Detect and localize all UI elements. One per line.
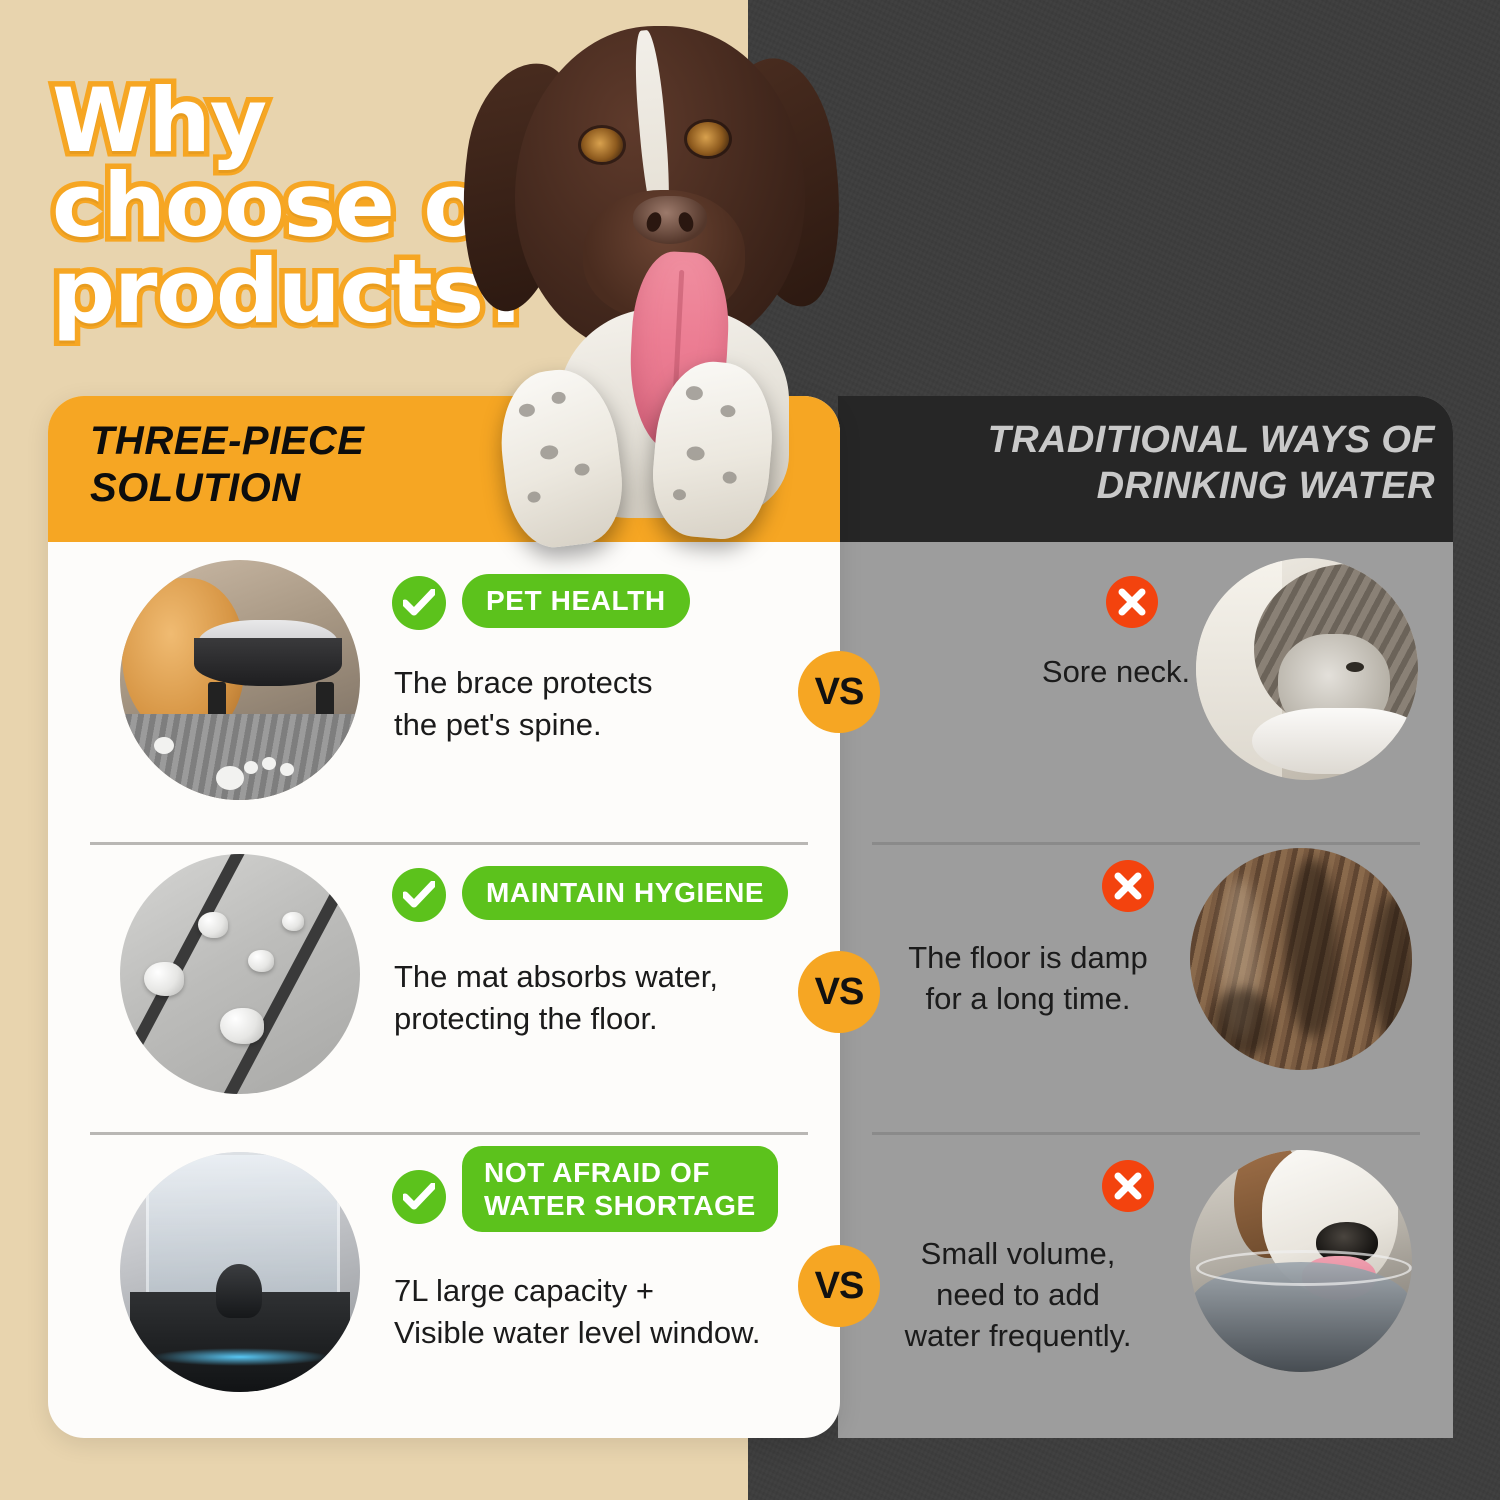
traditional-desc-2-line-1: The floor is damp [868, 938, 1188, 979]
solution-desc-3-line-2: Visible water level window. [394, 1312, 864, 1354]
solution-photo-2 [120, 854, 360, 1094]
traditional-desc-3-line-2: need to add [848, 1275, 1188, 1316]
traditional-divider-2 [872, 1132, 1420, 1135]
traditional-card-header: TRADITIONAL WAYS OF DRINKING WATER [838, 396, 1453, 542]
cross-icon [1102, 1160, 1154, 1212]
traditional-row-3: Small volume, need to add water frequent… [838, 1126, 1453, 1416]
solution-row-1: PET HEALTH The brace protects the pet's … [48, 546, 840, 836]
solution-badge-3-line-2: WATER SHORTAGE [484, 1189, 756, 1222]
solution-photo-1 [120, 560, 360, 800]
solution-desc-1-line-2: the pet's spine. [394, 704, 864, 746]
infographic-canvas: Why choose our products? THREE-PIECE SOL… [0, 0, 1500, 1500]
solution-divider-1 [90, 842, 808, 845]
solution-row-2: MAINTAIN HYGIENE The mat absorbs water, … [48, 836, 840, 1126]
traditional-photo-3 [1190, 1150, 1412, 1372]
vs-badge-3: VS [798, 1245, 880, 1327]
traditional-desc-2-line-2: for a long time. [868, 979, 1188, 1020]
vs-badge-2: VS [798, 951, 880, 1033]
traditional-desc-3-line-3: water frequently. [848, 1316, 1188, 1357]
traditional-header-line-2: DRINKING WATER [843, 464, 1435, 510]
traditional-desc-3: Small volume, need to add water frequent… [848, 1234, 1188, 1357]
traditional-header-text: TRADITIONAL WAYS OF DRINKING WATER [843, 418, 1435, 509]
traditional-desc-2: The floor is damp for a long time. [868, 938, 1188, 1020]
traditional-desc-1: Sore neck. [956, 652, 1276, 693]
solution-desc-1: The brace protects the pet's spine. [394, 662, 864, 746]
solution-badge-2: MAINTAIN HYGIENE [462, 866, 788, 920]
traditional-desc-1-line-1: Sore neck. [956, 652, 1276, 693]
solution-desc-2-line-2: protecting the floor. [394, 998, 864, 1040]
solution-desc-2-line-1: The mat absorbs water, [394, 956, 864, 998]
hero-dog-photo [455, 0, 875, 580]
solution-desc-3-line-1: 7L large capacity + [394, 1270, 864, 1312]
solution-desc-3: 7L large capacity + Visible water level … [394, 1270, 864, 1354]
check-icon [392, 576, 446, 630]
traditional-divider-1 [872, 842, 1420, 845]
solution-badge-3: NOT AFRAID OF WATER SHORTAGE [462, 1146, 778, 1232]
traditional-desc-3-line-1: Small volume, [848, 1234, 1188, 1275]
cross-icon [1102, 860, 1154, 912]
solution-divider-2 [90, 1132, 808, 1135]
vs-badge-1: VS [798, 651, 880, 733]
cross-icon [1106, 576, 1158, 628]
solution-desc-1-line-1: The brace protects [394, 662, 864, 704]
solution-badge-3-line-1: NOT AFRAID OF [484, 1156, 756, 1189]
traditional-row-2: The floor is damp for a long time. [838, 836, 1453, 1126]
check-icon [392, 868, 446, 922]
solution-badge-1: PET HEALTH [462, 574, 690, 628]
solution-photo-3 [120, 1152, 360, 1392]
traditional-header-line-1: TRADITIONAL WAYS OF [843, 418, 1435, 464]
traditional-photo-2 [1190, 848, 1412, 1070]
solution-row-3: NOT AFRAID OF WATER SHORTAGE 7L large ca… [48, 1126, 840, 1416]
traditional-row-1: Sore neck. [838, 546, 1453, 836]
check-icon [392, 1170, 446, 1224]
solution-desc-2: The mat absorbs water, protecting the fl… [394, 956, 864, 1040]
